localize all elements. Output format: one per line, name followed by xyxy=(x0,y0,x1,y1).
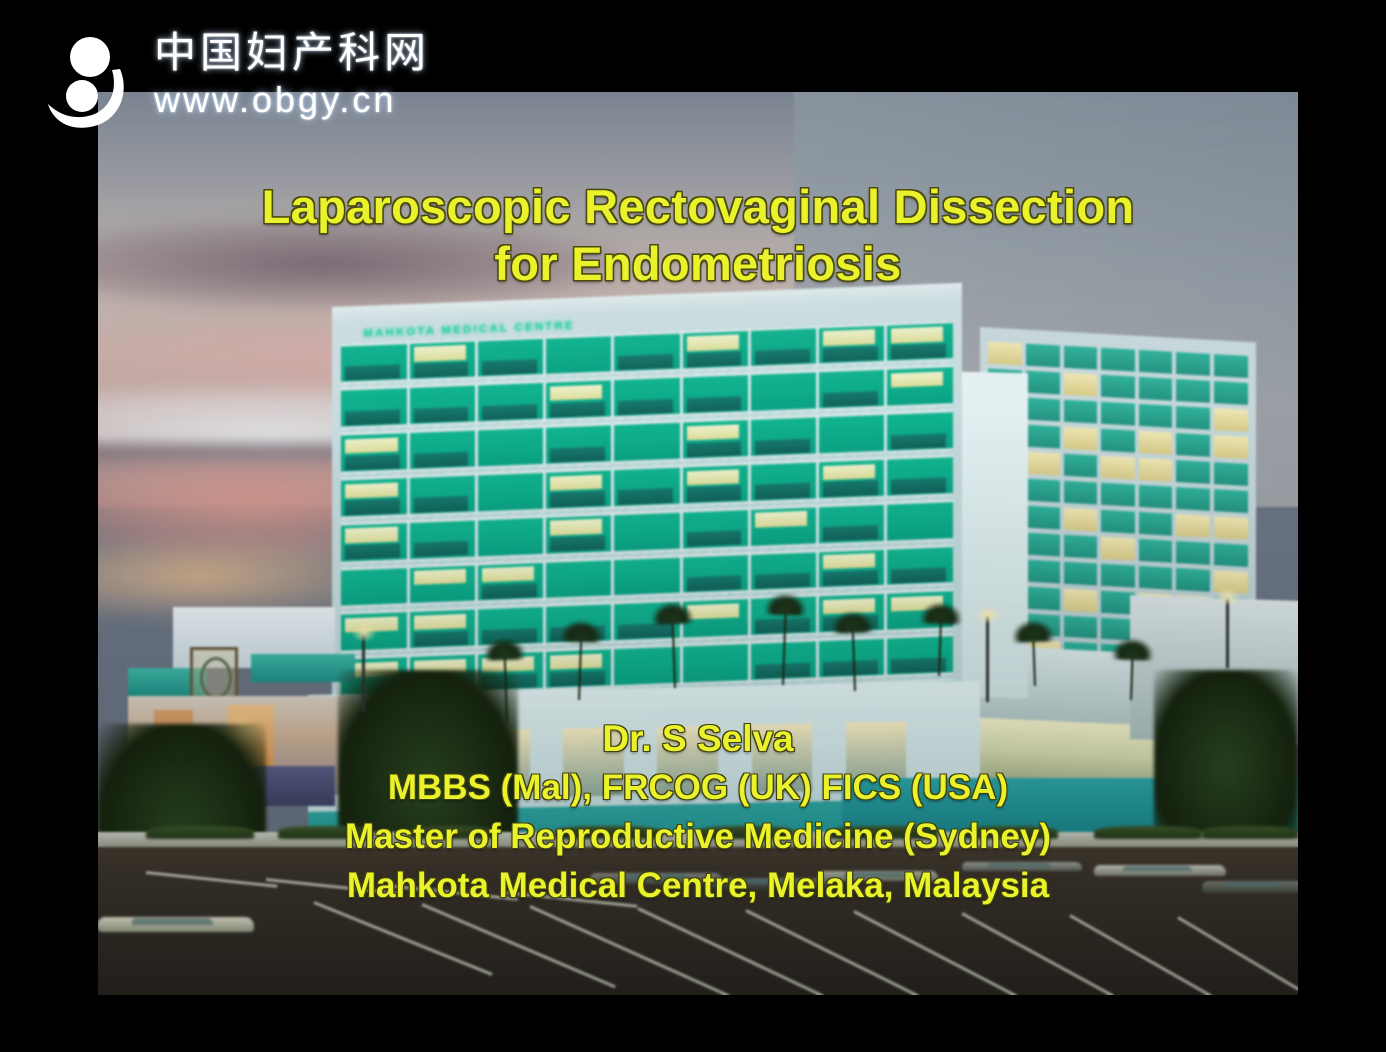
building-window-bay xyxy=(683,552,751,596)
building-window-bay xyxy=(546,423,614,467)
building-window-bay xyxy=(341,431,409,475)
building-window-bay xyxy=(887,454,952,498)
building-window-bay xyxy=(819,367,887,411)
building-window-bay xyxy=(478,380,546,424)
slide-title: Laparoscopic Rectovaginal Dissection for… xyxy=(98,178,1298,293)
tower-window xyxy=(1176,541,1210,565)
building-window-bay xyxy=(546,512,614,556)
building-window-bay xyxy=(751,549,819,593)
tower-window xyxy=(1101,563,1135,587)
tower-window xyxy=(1064,615,1098,639)
building-window-bay xyxy=(887,320,952,364)
tower-window xyxy=(1176,460,1210,484)
building-window-bay xyxy=(341,475,409,519)
tower-window xyxy=(988,342,1022,366)
building-window-bay xyxy=(819,546,887,590)
tower-window xyxy=(1064,534,1098,558)
tower-window xyxy=(1064,400,1098,424)
building-window-bay xyxy=(819,502,887,546)
building-window-bay xyxy=(546,378,614,422)
tower-window xyxy=(1101,375,1135,399)
tower-window xyxy=(1064,561,1098,585)
building-window-bay xyxy=(410,562,478,606)
mother-child-logo-icon xyxy=(46,34,142,138)
tower-window xyxy=(1026,559,1060,583)
tower-window xyxy=(1064,480,1098,504)
tower-window xyxy=(1139,350,1173,374)
building-window-bay xyxy=(751,460,819,504)
building-window-bay xyxy=(683,507,751,551)
presenter-name: Dr. S Selva xyxy=(98,718,1298,760)
tower-window xyxy=(1139,565,1173,589)
building-window-bay xyxy=(410,428,478,472)
tower-window xyxy=(1214,408,1248,432)
parking-stall-line xyxy=(1177,917,1298,995)
tower-window xyxy=(1139,538,1173,562)
watermark-text: 中国妇产科网 www.obgy.cn xyxy=(154,30,454,121)
building-window-bay xyxy=(683,641,751,685)
building-window-bay xyxy=(751,415,819,459)
screenshot-root: MAHKOTA MEDICAL CENTRE L xyxy=(0,0,1386,1052)
street-lamp xyxy=(986,616,989,702)
tower-window xyxy=(1176,433,1210,457)
building-window-bay xyxy=(614,375,682,419)
building-window-bay xyxy=(410,517,478,561)
building-window-bay xyxy=(819,457,887,501)
tower-window xyxy=(1214,543,1248,567)
parking-stall-line xyxy=(1069,915,1298,995)
tower-window xyxy=(1139,458,1173,482)
slide-title-line-1: Laparoscopic Rectovaginal Dissection xyxy=(98,178,1298,235)
tower-window xyxy=(1176,352,1210,376)
building-window-bay xyxy=(478,560,546,604)
building-window-bay xyxy=(614,510,682,554)
tower-window xyxy=(1214,516,1248,540)
tower-window xyxy=(1026,478,1060,502)
building-window-bay xyxy=(614,420,682,464)
presenter-degrees: MBBS (Mal), FRCOG (UK) FICS (USA) xyxy=(98,768,1298,808)
tower-window xyxy=(1101,509,1135,533)
building-window-bay xyxy=(751,325,819,369)
tower-window xyxy=(1101,429,1135,453)
tower-window xyxy=(1026,586,1060,610)
tower-window xyxy=(1026,371,1060,395)
tower-window xyxy=(1026,398,1060,422)
tower-window xyxy=(1214,381,1248,405)
building-window-bay xyxy=(751,504,819,548)
building-window-bay xyxy=(887,365,952,409)
tower-window xyxy=(1026,344,1060,368)
tower-window xyxy=(1214,435,1248,459)
tower-window xyxy=(1026,532,1060,556)
tower-window xyxy=(1064,346,1098,370)
tower-window-column xyxy=(1026,344,1060,664)
tower-window xyxy=(1026,424,1060,448)
presenter-affiliation: Mahkota Medical Centre, Melaka, Malaysia xyxy=(98,866,1298,906)
tower-window xyxy=(1139,377,1173,401)
building-window-bay xyxy=(478,515,546,559)
tower-window xyxy=(1176,406,1210,430)
video-frame[interactable]: MAHKOTA MEDICAL CENTRE L xyxy=(98,92,1298,995)
parking-stall-line xyxy=(421,903,615,988)
building-window-bay xyxy=(887,499,952,543)
parking-stall-line xyxy=(529,905,738,995)
tower-window xyxy=(1101,536,1135,560)
tower-window xyxy=(1176,487,1210,511)
tower-window-column xyxy=(1064,346,1098,666)
building-window-bay xyxy=(410,473,478,517)
tower-window xyxy=(1214,489,1248,513)
building-window-bay xyxy=(478,470,546,514)
street-lamp xyxy=(1226,598,1229,668)
building-window-bay xyxy=(478,425,546,469)
tower-window xyxy=(1026,451,1060,475)
building-window-bay xyxy=(887,634,952,678)
tower-window xyxy=(1139,512,1173,536)
tower-window xyxy=(1064,453,1098,477)
watermark-url: www.obgy.cn xyxy=(154,79,454,121)
parking-stall-line xyxy=(313,901,492,976)
building-window-bay xyxy=(751,370,819,414)
street-lamp xyxy=(362,634,365,712)
tower-window xyxy=(1139,485,1173,509)
tower-window xyxy=(1064,373,1098,397)
building-window-bay xyxy=(683,417,751,461)
tower-window xyxy=(1101,402,1135,426)
slide-title-line-2: for Endometriosis xyxy=(98,235,1298,292)
tower-window xyxy=(1214,462,1248,486)
building-window-bay xyxy=(614,554,682,598)
building-window-bay xyxy=(887,410,952,454)
building-window-bay xyxy=(546,467,614,511)
tower-window xyxy=(1101,456,1135,480)
building-window-bay xyxy=(819,412,887,456)
building-window-bay xyxy=(683,373,751,417)
presenter-masters: Master of Reproductive Medicine (Sydney) xyxy=(98,817,1298,857)
site-watermark: 中国妇产科网 www.obgy.cn xyxy=(46,30,446,150)
building-window-bay xyxy=(341,565,409,609)
building-window-bay xyxy=(614,465,682,509)
tower-window xyxy=(1064,507,1098,531)
tower-window xyxy=(1214,354,1248,378)
building-window-bay xyxy=(341,520,409,564)
building-window-bay xyxy=(341,386,409,430)
tower-window xyxy=(1176,379,1210,403)
tower-window xyxy=(1064,588,1098,612)
tower-window xyxy=(1139,404,1173,428)
building-window-bay xyxy=(410,383,478,427)
building-window-bay xyxy=(887,544,952,588)
building-window-bay xyxy=(819,323,887,367)
building-window-bay xyxy=(546,557,614,601)
tower-window xyxy=(1026,505,1060,529)
parked-car xyxy=(98,917,254,932)
tower-window xyxy=(1176,514,1210,538)
building-window-bay xyxy=(683,462,751,506)
watermark-site-name: 中国妇产科网 xyxy=(154,30,454,75)
tower-window xyxy=(1064,427,1098,451)
tower-window xyxy=(1176,567,1210,591)
tower-window xyxy=(1101,483,1135,507)
parking-stall-line xyxy=(745,909,983,995)
tower-window xyxy=(1101,348,1135,372)
tower-window xyxy=(1139,431,1173,455)
